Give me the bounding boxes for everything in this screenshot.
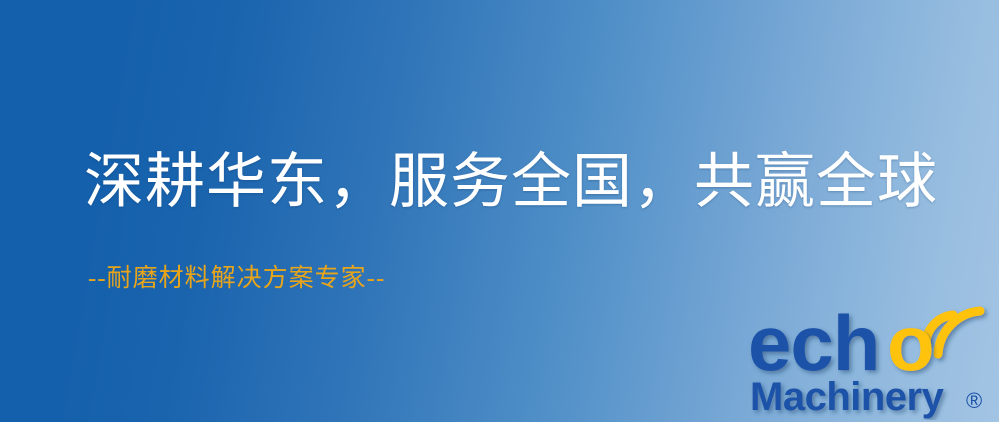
logo-wordmark-ech: ech bbox=[748, 299, 879, 387]
banner-subtitle: --耐磨材料解决方案专家-- bbox=[88, 266, 385, 291]
banner-headline: 深耕华东，服务全国，共赢全球 bbox=[84, 152, 938, 212]
logo-wordmark-o: o bbox=[887, 299, 935, 387]
logo-wordmark-machinery: Machinery bbox=[750, 375, 945, 419]
echo-machinery-logo: ech o Machinery ® bbox=[740, 292, 996, 420]
hero-banner: 深耕华东，服务全国，共赢全球 --耐磨材料解决方案专家-- ech o Mach… bbox=[0, 0, 999, 422]
logo-registered-mark: ® bbox=[966, 388, 982, 413]
